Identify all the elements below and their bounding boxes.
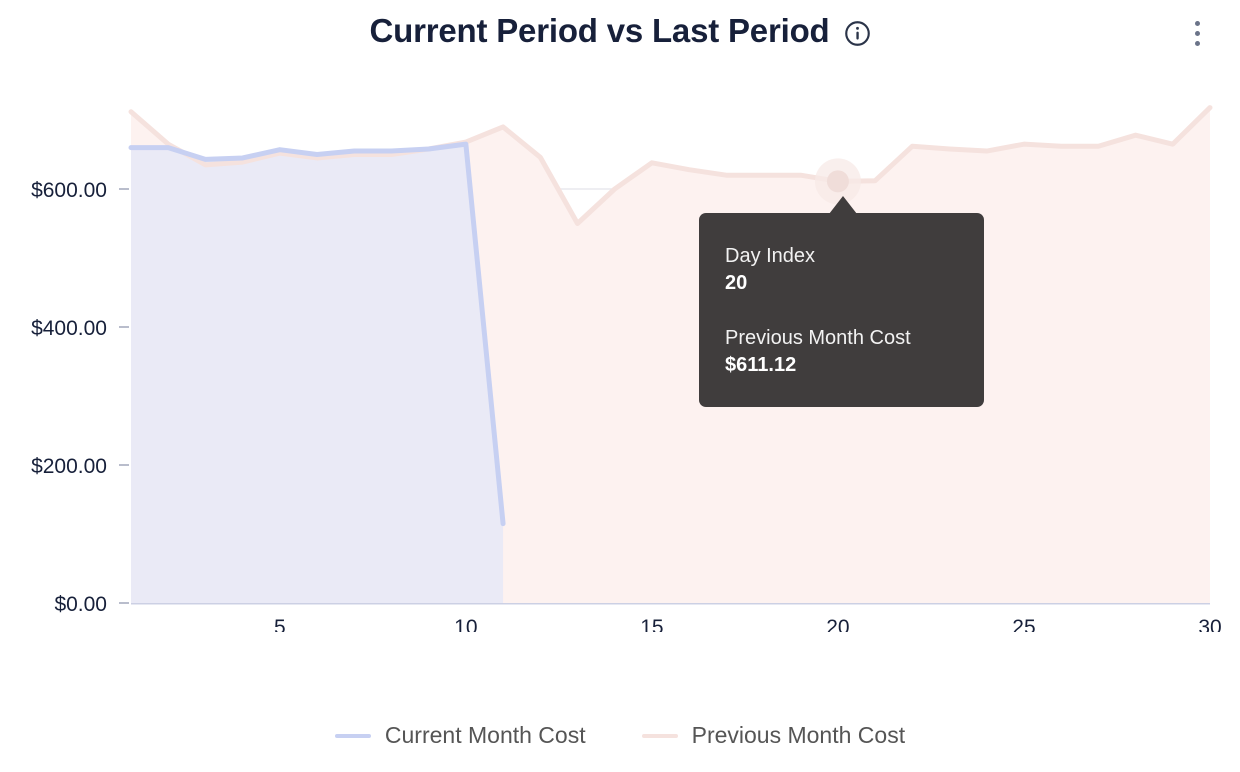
legend-label-current: Current Month Cost — [385, 722, 586, 749]
title-wrap: Current Period vs Last Period — [0, 12, 1240, 50]
kebab-menu-icon[interactable] — [1184, 18, 1210, 48]
legend-swatch-current — [335, 734, 371, 738]
x-axis-tick-label: 20 — [826, 616, 849, 632]
kebab-dot-2 — [1195, 31, 1200, 36]
tooltip-arrow — [829, 196, 857, 214]
legend-item-previous-month-cost[interactable]: Previous Month Cost — [642, 722, 905, 749]
legend-label-previous: Previous Month Cost — [692, 722, 905, 749]
series-area — [131, 144, 503, 603]
y-axis-tick-label: $200.00 — [31, 455, 107, 478]
y-axis-tick-label: $600.00 — [31, 179, 107, 202]
kebab-dot-3 — [1195, 41, 1200, 46]
x-axis-tick-label: 15 — [640, 616, 663, 632]
y-axis-tick-label: $400.00 — [31, 317, 107, 340]
y-axis-tick-labels: $0.00$200.00$400.00$600.00 — [31, 179, 107, 616]
legend-item-current-month-cost[interactable]: Current Month Cost — [335, 722, 586, 749]
x-axis-tick-label: 30 — [1198, 616, 1221, 632]
plot-region: $0.00$200.00$400.00$600.00 51015202530 D… — [0, 72, 1240, 632]
chart-legend: Current Month Cost Previous Month Cost — [0, 722, 1240, 749]
info-circle-icon[interactable] — [844, 20, 871, 47]
x-axis-tick-labels: 51015202530 — [274, 616, 1222, 632]
chart-card: Current Period vs Last Period $0.00$200.… — [0, 0, 1240, 772]
series-areas — [131, 108, 1210, 603]
legend-swatch-previous — [642, 734, 678, 738]
page-title: Current Period vs Last Period — [370, 12, 830, 50]
chart-header: Current Period vs Last Period — [0, 0, 1240, 72]
x-axis-tick-label: 25 — [1012, 616, 1035, 632]
y-axis-tick-label: $0.00 — [54, 593, 107, 616]
highlight-dot[interactable] — [827, 170, 849, 192]
x-axis-tick-label: 5 — [274, 616, 286, 632]
kebab-dot-1 — [1195, 21, 1200, 26]
x-axis-tick-label: 10 — [454, 616, 477, 632]
chart-canvas[interactable]: $0.00$200.00$400.00$600.00 51015202530 D… — [0, 72, 1240, 632]
